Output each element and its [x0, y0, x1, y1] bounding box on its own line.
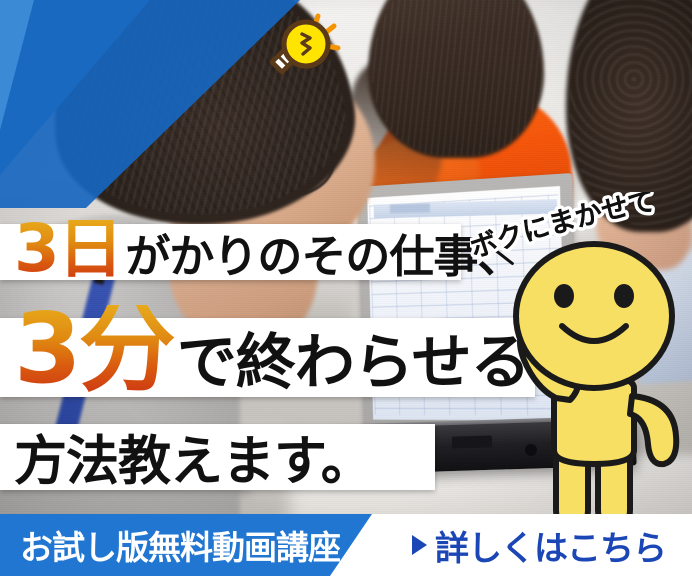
cta-badge[interactable]: お試し版無料動画講座	[0, 514, 400, 576]
headline-2-number: 3分	[14, 305, 177, 392]
mascot-head	[516, 244, 672, 388]
headline-1-rest: がかりのその仕事、	[125, 220, 521, 285]
cta-bar[interactable]: お試し版無料動画講座 詳しくはこちら	[0, 514, 692, 576]
headline-2-rest: で終わらせる	[177, 314, 530, 401]
cta-link-label: 詳しくはこちら	[435, 521, 666, 570]
triangle-right-icon	[412, 535, 427, 555]
ad-banner[interactable]: 3日がかりのその仕事、 3分で終わらせる 方法教えます。 ボクにまかせて ボクに…	[0, 0, 692, 576]
headline-line-3: 方法教えます。	[0, 424, 435, 490]
lightbulb-icon	[258, 4, 344, 78]
headline-line-2: 3分で終わらせる	[0, 318, 535, 397]
headline-line-1: 3日がかりのその仕事、	[0, 224, 461, 280]
headline-1-number: 3日	[14, 220, 125, 279]
mascot-eye-left	[554, 284, 574, 308]
cta-badge-label: お試し版無料動画講座	[0, 521, 340, 569]
mascot-eye-right	[614, 284, 634, 308]
mascot-character	[498, 238, 692, 538]
cta-details-link[interactable]: 詳しくはこちら	[412, 514, 666, 576]
headline-3-rest: 方法教えます。	[14, 419, 373, 495]
